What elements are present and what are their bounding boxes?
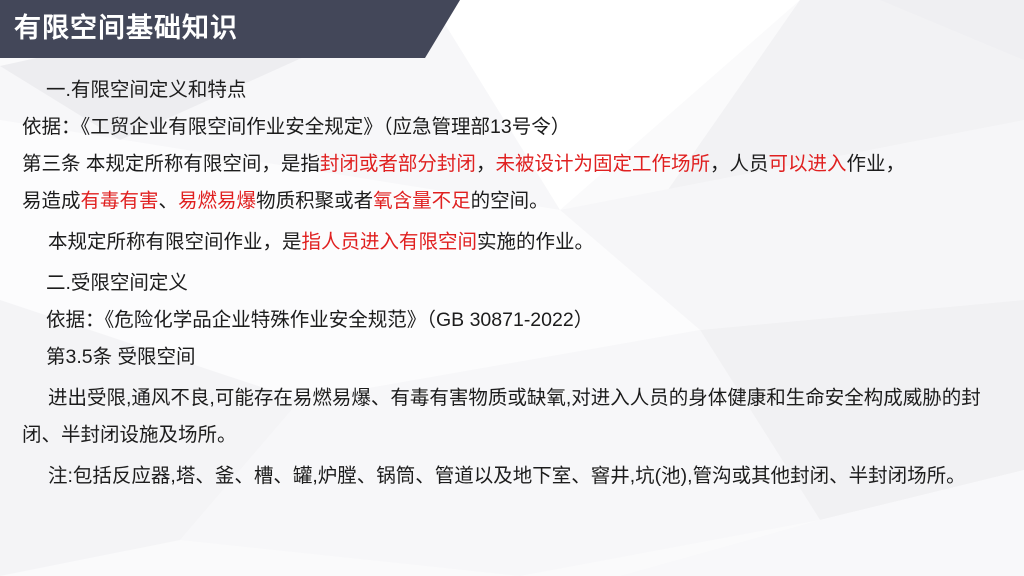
note-paragraph: 注:包括反应器,塔、釜、槽、罐,炉膛、锅筒、管道以及地下室、窨井,坑(池),管沟…: [0, 458, 1024, 495]
article-3-line-2: 易造成有毒有害、易燃易爆物质积聚或者氧含量不足的空间。: [0, 183, 1024, 220]
article-3-seg-3: ，: [476, 153, 496, 175]
article-3-line-1: 第三条 本规定所称有限空间，是指封闭或者部分封闭，未被设计为固定工作场所，人员可…: [0, 146, 1024, 183]
clause-3-5-body: 进出受限,通风不良,可能存在易燃易爆、有毒有害物质或缺氧,对进入人员的身体健康和…: [0, 380, 1024, 454]
article-3-seg-7: 作业，: [847, 153, 906, 175]
section-2-heading: 二.受限空间定义: [0, 265, 1024, 302]
slide-root: 有限空间基础知识 一.有限空间定义和特点 依据：《工贸企业有限空间作业安全规定》…: [0, 0, 1024, 576]
section-1-heading: 一.有限空间定义和特点: [0, 72, 1024, 109]
article-3-seg-4-highlight: 未被设计为固定工作场所: [495, 153, 710, 175]
article-3-line2-seg-6-highlight: 氧含量不足: [373, 190, 471, 212]
article-3-line2-seg-7: 的空间。: [471, 190, 549, 212]
article-3-seg-6-highlight: 可以进入: [768, 153, 846, 175]
article-3-line2-seg-3: 、: [159, 190, 179, 212]
article-3-line2-seg-5: 物质积聚或者: [256, 190, 373, 212]
article-3-seg-1: 第三条 本规定所称有限空间，是指: [22, 153, 320, 175]
section-1-basis: 依据：《工贸企业有限空间作业安全规定》（应急管理部13号令）: [0, 109, 1024, 146]
article-3-seg-5: ，人员: [710, 153, 769, 175]
article-3-line2-seg-2-highlight: 有毒有害: [81, 190, 159, 212]
section-2-basis: 依据：《危险化学品企业特殊作业安全规范》（GB 30871-2022）: [0, 302, 1024, 339]
operation-def-seg-2-highlight: 指人员进入有限空间: [302, 231, 478, 253]
operation-def-seg-3: 实施的作业。: [477, 231, 594, 253]
page-title: 有限空间基础知识: [14, 8, 434, 48]
operation-definition-line: 本规定所称有限空间作业，是指人员进入有限空间实施的作业。: [0, 224, 1024, 261]
operation-def-seg-1: 本规定所称有限空间作业，是: [48, 231, 302, 253]
article-3-line2-seg-1: 易造成: [22, 190, 81, 212]
article-3-seg-2-highlight: 封闭或者部分封闭: [320, 153, 476, 175]
slide-body: 一.有限空间定义和特点 依据：《工贸企业有限空间作业安全规定》（应急管理部13号…: [0, 72, 1024, 495]
slide-title-banner: 有限空间基础知识: [0, 0, 460, 58]
article-3-line2-seg-4-highlight: 易燃易爆: [178, 190, 256, 212]
clause-3-5-heading: 第3.5条 受限空间: [0, 339, 1024, 376]
